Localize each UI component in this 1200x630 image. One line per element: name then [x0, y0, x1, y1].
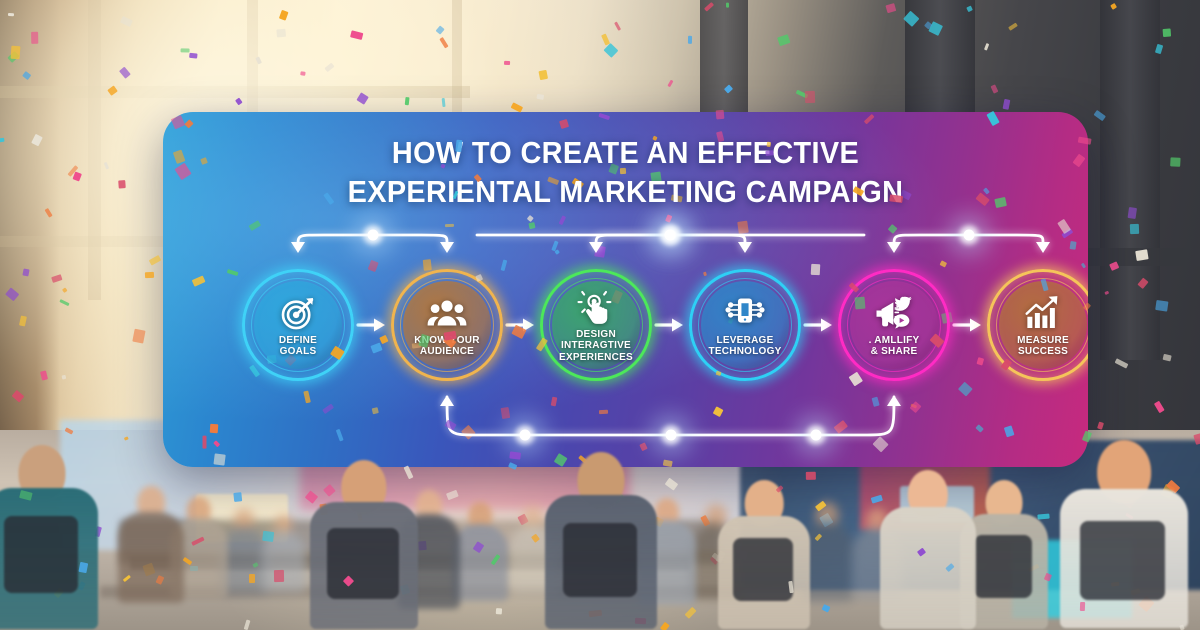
- step-node-4[interactable]: LEVERAGE TECHNOLOGY: [689, 269, 801, 381]
- step-node-1[interactable]: DEFINE GOALS: [242, 269, 354, 381]
- step-label-line-1: DEFINE: [279, 335, 317, 346]
- people-icon: [427, 293, 467, 333]
- crowd-person: [262, 514, 306, 594]
- step-label-line-2: TECHNOLOGY: [708, 346, 781, 357]
- confetti-piece: [145, 272, 154, 279]
- connector-arrowhead: [887, 242, 901, 253]
- confetti-piece: [11, 46, 21, 59]
- step-label-line-1: MEASURE: [1017, 335, 1069, 346]
- confetti-piece: [599, 410, 608, 414]
- connector-dot-5: [520, 430, 531, 441]
- crowd-person: [718, 480, 810, 630]
- step-label-6: MEASURE SUCCESS: [1017, 335, 1069, 357]
- connector-dot-6: [665, 430, 676, 441]
- step-label-1: DEFINE GOALS: [279, 335, 317, 357]
- confetti-piece: [277, 29, 286, 38]
- crowd-person: [118, 486, 184, 604]
- growth-chart-icon: [1023, 293, 1063, 333]
- confetti-piece: [181, 48, 190, 52]
- confetti-piece: [210, 424, 218, 434]
- confetti-piece: [805, 91, 816, 104]
- step-label-line-1: LEVERAGE: [708, 335, 781, 346]
- connector-dot-7: [811, 430, 822, 441]
- confetti-piece: [1128, 207, 1137, 219]
- confetti-piece: [455, 140, 462, 152]
- connector-arrowhead: [887, 395, 901, 406]
- title-line-1: HOW TO CREATE AN EFFECTIVE: [195, 134, 1055, 173]
- connector-dot-1: [367, 230, 378, 241]
- connector-arrowhead: [738, 242, 752, 253]
- confetti-piece: [1170, 157, 1181, 166]
- connector-arrowhead: [970, 319, 981, 332]
- confetti-piece: [132, 329, 146, 344]
- confetti-piece: [1135, 249, 1148, 261]
- step-label-line-2: SUCCESS: [1017, 346, 1069, 357]
- crowd-person: [1060, 440, 1188, 630]
- smartphone-network-icon: [725, 293, 765, 333]
- connector-arrowhead: [821, 319, 832, 332]
- crowd-person: [880, 470, 976, 630]
- confetti-piece: [300, 72, 306, 76]
- connector-dot-4: [665, 230, 676, 241]
- connector-arrowhead: [374, 319, 385, 332]
- connector-arrowhead: [440, 242, 454, 253]
- connector-arrowhead: [672, 319, 683, 332]
- title-line-2: EXPERIENTAL MARKETING CAMPAIGN: [195, 173, 1055, 212]
- confetti-piece: [249, 574, 255, 583]
- target-icon: [278, 293, 318, 333]
- confetti-piece: [31, 32, 38, 44]
- page-title: HOW TO CREATE AN EFFECTIVE EXPERIENTAL M…: [195, 134, 1055, 212]
- confetti-piece: [62, 375, 67, 380]
- step-label-3: DESIGN INTERAGTIVE EXPERIENCES: [544, 329, 648, 363]
- confetti-piece: [806, 472, 816, 480]
- confetti-piece: [538, 70, 548, 80]
- step-node-3[interactable]: DESIGN INTERAGTIVE EXPERIENCES: [540, 269, 652, 381]
- connector-arrowhead: [589, 242, 603, 253]
- step-node-2[interactable]: KNOW YOUR AUDIENCE: [391, 269, 503, 381]
- step-label-line-2: EXPERIENCES: [544, 352, 648, 363]
- confetti-piece: [118, 180, 125, 189]
- step-label-line-2: AUDIENCE: [414, 346, 479, 357]
- hall-pillar: [1100, 0, 1160, 360]
- confetti-piece: [233, 492, 242, 502]
- confetti-piece: [1163, 29, 1171, 37]
- confetti-piece: [496, 608, 503, 614]
- step-label-line-2: GOALS: [279, 346, 317, 357]
- tap-hand-icon: [576, 287, 616, 327]
- connector-arrowhead: [1036, 242, 1050, 253]
- confetti-piece: [1080, 602, 1085, 611]
- confetti-piece: [189, 53, 197, 58]
- step-label-line-2: & SHARE: [869, 346, 920, 357]
- crowd-person: [0, 445, 98, 630]
- connector-dot-3: [963, 230, 974, 241]
- connector-arrowhead: [440, 395, 454, 406]
- confetti-piece: [501, 407, 511, 419]
- confetti-piece: [262, 530, 274, 542]
- step-label-5: . AMLLIFY & SHARE: [869, 335, 920, 357]
- crowd-person: [545, 452, 657, 630]
- confetti-piece: [765, 150, 774, 156]
- step-label-4: LEVERAGE TECHNOLOGY: [708, 335, 781, 357]
- confetti-piece: [78, 562, 88, 573]
- confetti-piece: [509, 452, 521, 460]
- step-label-line-1: . AMLLIFY: [869, 335, 920, 346]
- confetti-piece: [767, 142, 772, 147]
- confetti-piece: [1130, 224, 1139, 234]
- confetti-piece: [504, 61, 510, 65]
- step-label-line-1: DESIGN INTERAGTIVE: [544, 329, 648, 351]
- confetti-piece: [726, 3, 729, 8]
- megaphone-share-icon: [874, 293, 914, 333]
- confetti-piece: [688, 36, 692, 44]
- confetti-piece: [536, 94, 544, 100]
- confetti-piece: [1155, 300, 1168, 311]
- infographic-panel: HOW TO CREATE AN EFFECTIVE EXPERIENTAL M…: [163, 112, 1088, 467]
- confetti-piece: [274, 570, 284, 582]
- crowd-person: [310, 460, 418, 630]
- confetti-piece: [854, 297, 865, 310]
- connector-arrowhead: [291, 242, 305, 253]
- confetti-piece: [8, 13, 14, 16]
